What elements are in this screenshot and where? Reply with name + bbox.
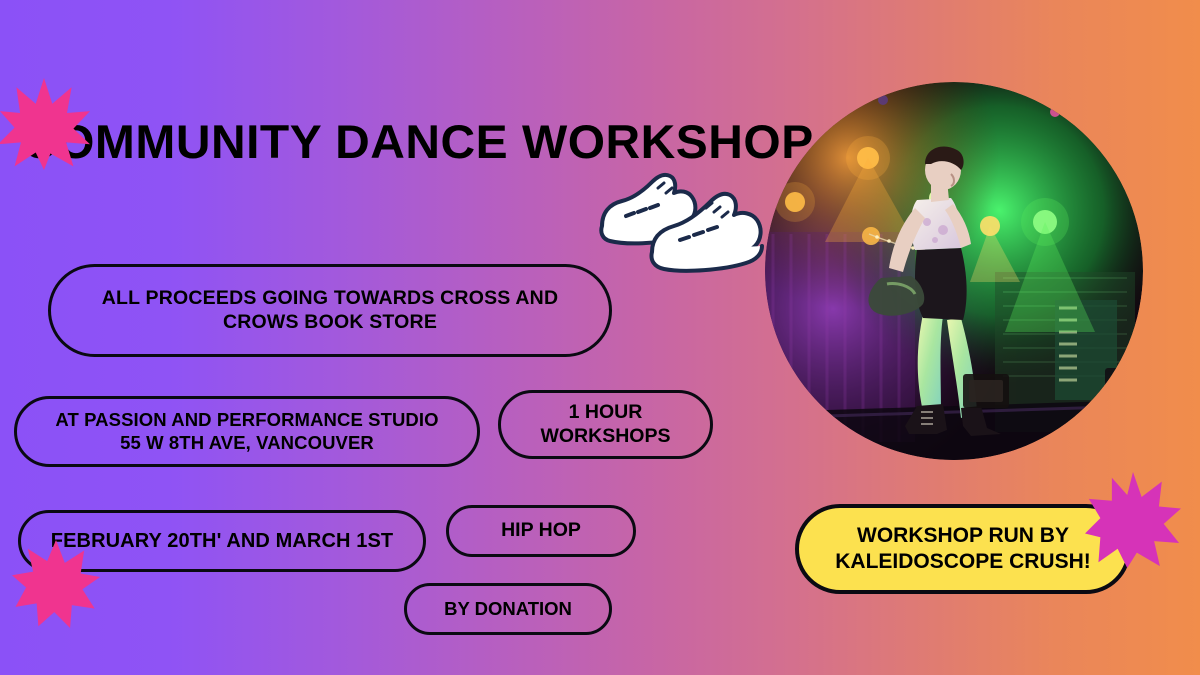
pill-price: BY DONATION [404,583,612,635]
starburst-icon [1085,472,1181,568]
event-poster: COMMUNITY DANCE WORKSHOP [0,0,1200,675]
pill-proceeds: ALL PROCEEDS GOING TOWARDS CROSS AND CRO… [48,264,612,357]
pill-duration: 1 HOUR WORKSHOPS [498,390,713,459]
pill-run-by-line2: KALEIDOSCOPE CRUSH! [835,549,1091,575]
pill-venue-line1: AT PASSION AND PERFORMANCE STUDIO [55,409,438,432]
pill-dates-label: FEBRUARY 20TH' AND MARCH 1ST [51,529,393,553]
pill-venue-line2: 55 W 8TH AVE, VANCOUVER [55,432,438,455]
pill-duration-line1: 1 HOUR [540,401,670,425]
pill-dance-style-label: HIP HOP [501,519,581,543]
pill-proceeds-line1: ALL PROCEEDS GOING TOWARDS CROSS AND [102,287,558,311]
pill-proceeds-line2: CROWS BOOK STORE [102,311,558,335]
pill-venue: AT PASSION AND PERFORMANCE STUDIO 55 W 8… [14,396,480,467]
starburst-icon [12,538,100,630]
pill-run-by-line1: WORKSHOP RUN BY [835,523,1091,549]
starburst-icon [0,78,90,170]
pill-price-label: BY DONATION [444,598,572,621]
pill-duration-line2: WORKSHOPS [540,425,670,449]
pill-run-by: WORKSHOP RUN BY KALEIDOSCOPE CRUSH! [795,504,1131,594]
performer-photo [765,82,1143,460]
page-title: COMMUNITY DANCE WORKSHOP [22,118,814,165]
pill-dance-style: HIP HOP [446,505,636,557]
sneakers-icon [596,160,776,285]
